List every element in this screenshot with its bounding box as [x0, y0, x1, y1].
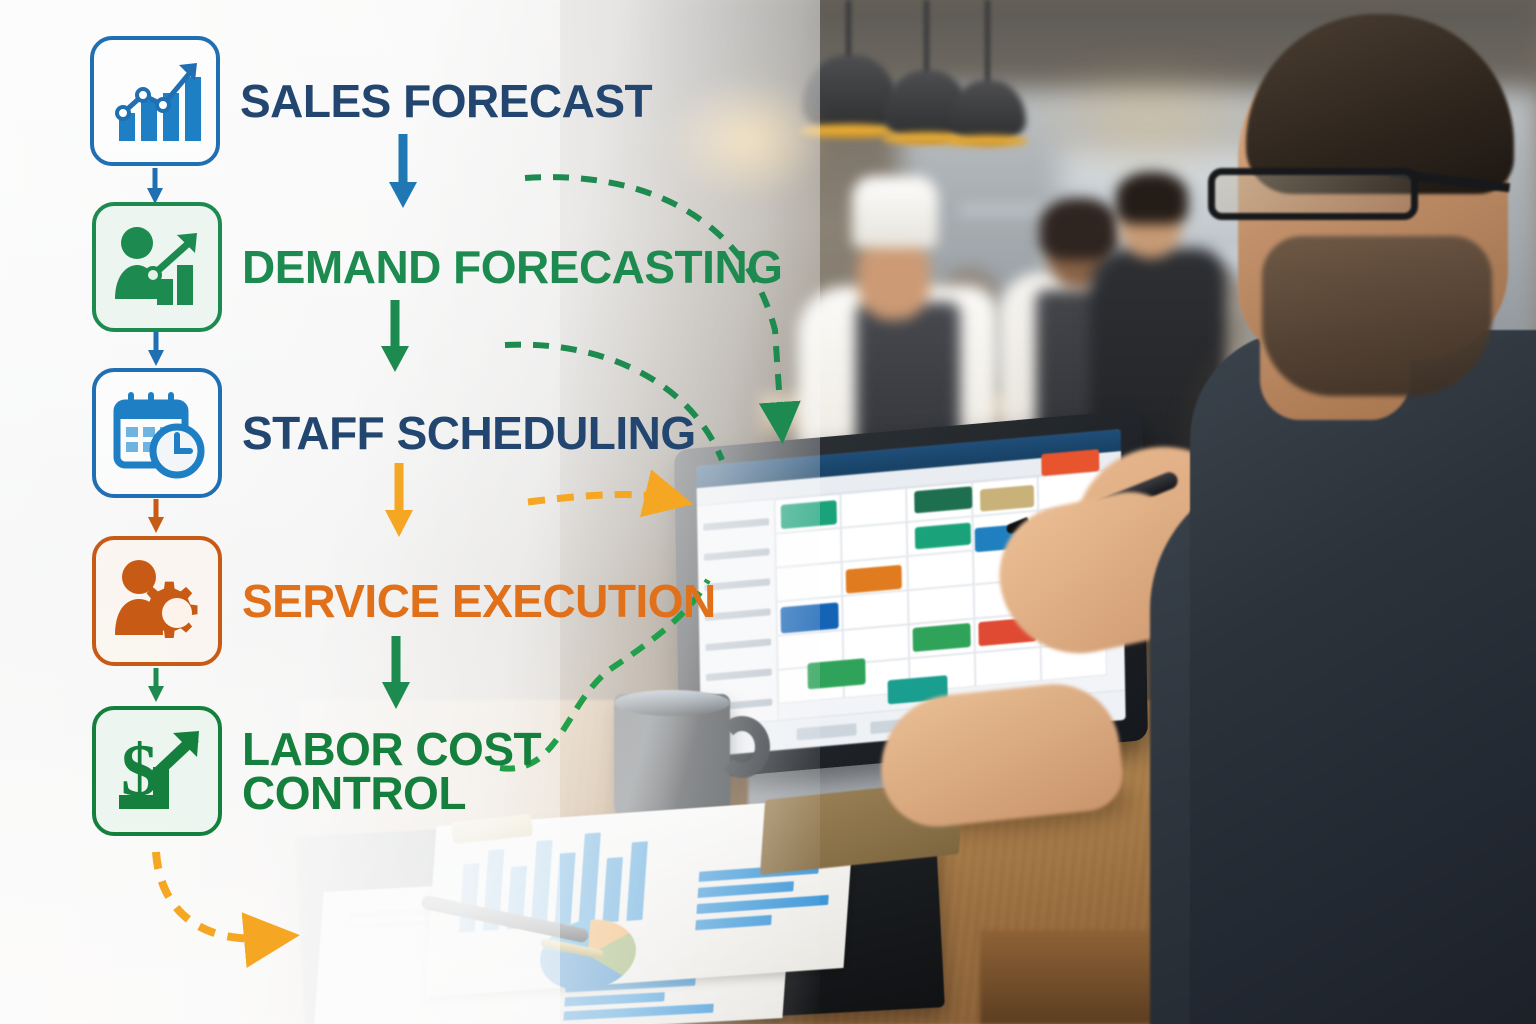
step-sales-forecast[interactable]: SALES FORECAST: [90, 36, 652, 166]
person-with-growth-chart-icon: [92, 202, 222, 332]
svg-text:$: $: [121, 730, 158, 812]
arrow-icon-4-to-5: [148, 668, 164, 702]
person-gear-icon: [92, 536, 222, 666]
step-label-demand-forecasting: DEMAND FORECASTING: [242, 245, 782, 289]
process-flow: SALES FORECAST DEMAND FORECASTING: [0, 0, 1536, 1024]
step-staff-scheduling[interactable]: STAFF SCHEDULING: [92, 368, 696, 498]
step-labor-cost-control[interactable]: $ LABOR COST CONTROL: [92, 706, 541, 836]
arrow-icon-1-to-2: [147, 168, 163, 204]
dollar-growth-arrow-icon: $: [92, 706, 222, 836]
step-demand-forecasting[interactable]: DEMAND FORECASTING: [92, 202, 782, 332]
arrow-icon-3-to-4: [148, 499, 164, 533]
step-label-labor-cost-control: LABOR COST CONTROL: [242, 727, 541, 815]
step-label-service-execution: SERVICE EXECUTION: [242, 579, 716, 623]
step-label-sales-forecast: SALES FORECAST: [240, 79, 652, 123]
bar-chart-trend-up-icon: [90, 36, 220, 166]
calendar-clock-icon: [92, 368, 222, 498]
arrow-icon-2-to-3: [148, 332, 164, 366]
step-label-staff-scheduling: STAFF SCHEDULING: [242, 411, 696, 455]
step-service-execution[interactable]: SERVICE EXECUTION: [92, 536, 716, 666]
infographic-stage: SALES FORECAST DEMAND FORECASTING: [0, 0, 1536, 1024]
